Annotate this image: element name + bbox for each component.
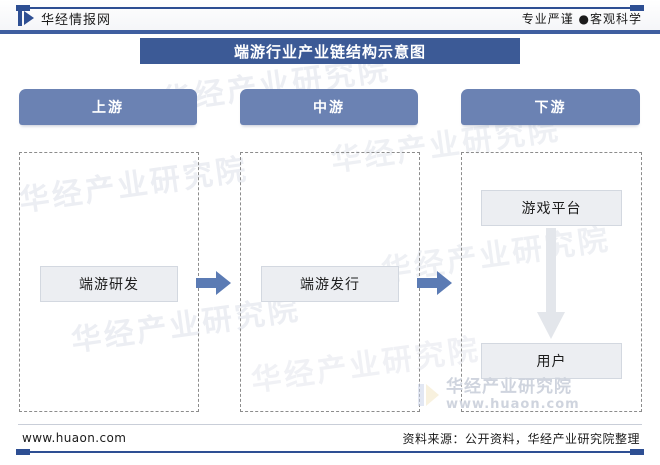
footer-url[interactable]: www.huaon.com (22, 431, 126, 445)
footer-bottom-rule (30, 451, 630, 453)
node-midstream-publish: 端游发行 (261, 266, 399, 302)
node-downstream-platform-label: 游戏平台 (522, 198, 582, 218)
diagram-stage: 上游 中游 下游 端游研发 端游发行 游戏平台 用户 (0, 0, 660, 465)
arrow-right-icon (196, 269, 232, 297)
node-upstream-rd-label: 端游研发 (79, 274, 139, 294)
header-top-rule (30, 7, 630, 9)
column-header-downstream: 下游 (461, 89, 640, 125)
column-header-upstream: 上游 (19, 89, 197, 125)
column-header-midstream-label: 中游 (313, 97, 345, 117)
brand-label: 华经情报网 (41, 9, 111, 28)
chart-title-bar: 端游行业产业链结构示意图 (140, 38, 520, 64)
column-header-midstream: 中游 (240, 89, 418, 125)
node-downstream-user-label: 用户 (537, 351, 567, 371)
column-header-upstream-label: 上游 (92, 97, 124, 117)
header-bottom-rule (0, 30, 660, 34)
node-downstream-user: 用户 (481, 343, 622, 379)
node-midstream-publish-label: 端游发行 (300, 274, 360, 294)
column-header-downstream-label: 下游 (535, 97, 567, 117)
header-slogan: 专业严谨 ●客观科学 (522, 10, 642, 27)
brand: 华经情报网 (18, 9, 111, 28)
footer-source: 资料来源：公开资料，华经产业研究院整理 (402, 430, 640, 447)
chart-page: 华经产业研究院 华经产业研究院 华经产业研究院 华经产业研究院 华经产业研究院 … (0, 0, 660, 465)
book-logo-icon (18, 11, 34, 26)
page-title: 端游行业产业链结构示意图 (234, 41, 426, 62)
arrow-down-icon (536, 228, 566, 340)
node-upstream-rd: 端游研发 (40, 266, 178, 302)
node-downstream-platform: 游戏平台 (481, 190, 622, 226)
footer-top-divider (18, 424, 642, 425)
arrow-right-icon (417, 269, 453, 297)
